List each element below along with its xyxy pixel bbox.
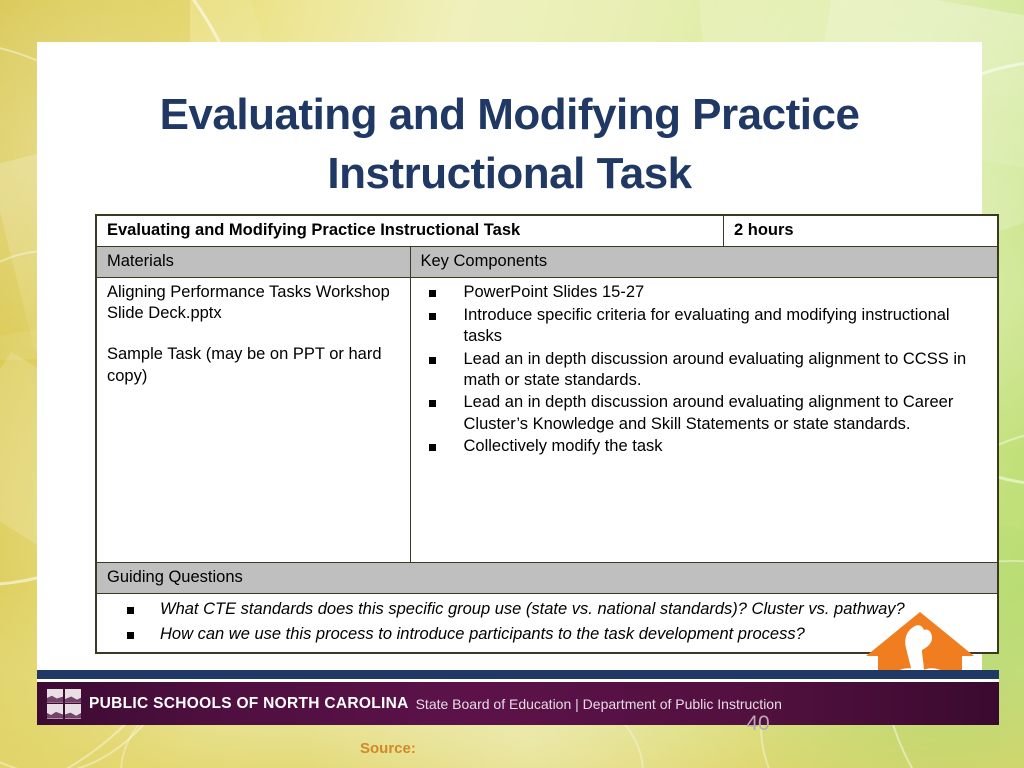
nc-seal-icon [47,689,81,719]
materials-item-2: Sample Task (may be on PPT or hard copy) [107,344,402,386]
table-row-title: Evaluating and Modifying Practice Instru… [97,216,998,247]
list-item: Collectively modify the task [421,436,990,457]
page-title-line-1: Evaluating and Modifying Practice [37,85,982,144]
footer-bar: PUBLIC SCHOOLS OF NORTH CAROLINA State B… [37,682,999,725]
list-item: Lead an in depth discussion around evalu… [421,392,990,435]
agenda-table-wrapper: Evaluating and Modifying Practice Instru… [95,214,999,654]
page-title-line-2: Instructional Task [37,144,982,203]
key-components-list: PowerPoint Slides 15-27 Introduce specif… [421,282,990,458]
footer-departments: State Board of Education | Department of… [416,696,782,712]
list-item: Introduce specific criteria for evaluati… [421,305,990,348]
table-row-guiding-questions-header: Guiding Questions [97,563,998,594]
footer-organization: PUBLIC SCHOOLS OF NORTH CAROLINA [89,695,409,713]
list-item: How can we use this process to introduce… [107,623,989,646]
materials-spacer [107,324,402,344]
guiding-questions-list: What CTE standards does this specific gr… [107,598,989,646]
cell-materials-body: Aligning Performance Tasks Workshop Slid… [97,278,411,563]
slide-canvas: Evaluating and Modifying Practice Instru… [0,0,1024,768]
page-title: Evaluating and Modifying Practice Instru… [37,85,982,204]
slide-number: 40 [718,712,798,736]
table-row-body: Aligning Performance Tasks Workshop Slid… [97,278,998,563]
cell-guiding-questions-header: Guiding Questions [97,563,998,594]
table-row-subheads: Materials Key Components [97,247,998,278]
list-item: What CTE standards does this specific gr… [107,598,989,621]
cell-materials-header: Materials [97,247,411,278]
footer-navy-rule [37,670,999,679]
materials-item-1: Aligning Performance Tasks Workshop Slid… [107,282,402,324]
cell-duration: 2 hours [724,216,998,247]
cell-key-components-header: Key Components [410,247,998,278]
cell-key-components-body: PowerPoint Slides 15-27 Introduce specif… [410,278,998,563]
agenda-table: Evaluating and Modifying Practice Instru… [96,215,998,653]
list-item: Lead an in depth discussion around evalu… [421,349,990,392]
cell-task-name: Evaluating and Modifying Practice Instru… [97,216,724,247]
source-label: Source: [360,740,416,757]
list-item: PowerPoint Slides 15-27 [421,282,990,303]
